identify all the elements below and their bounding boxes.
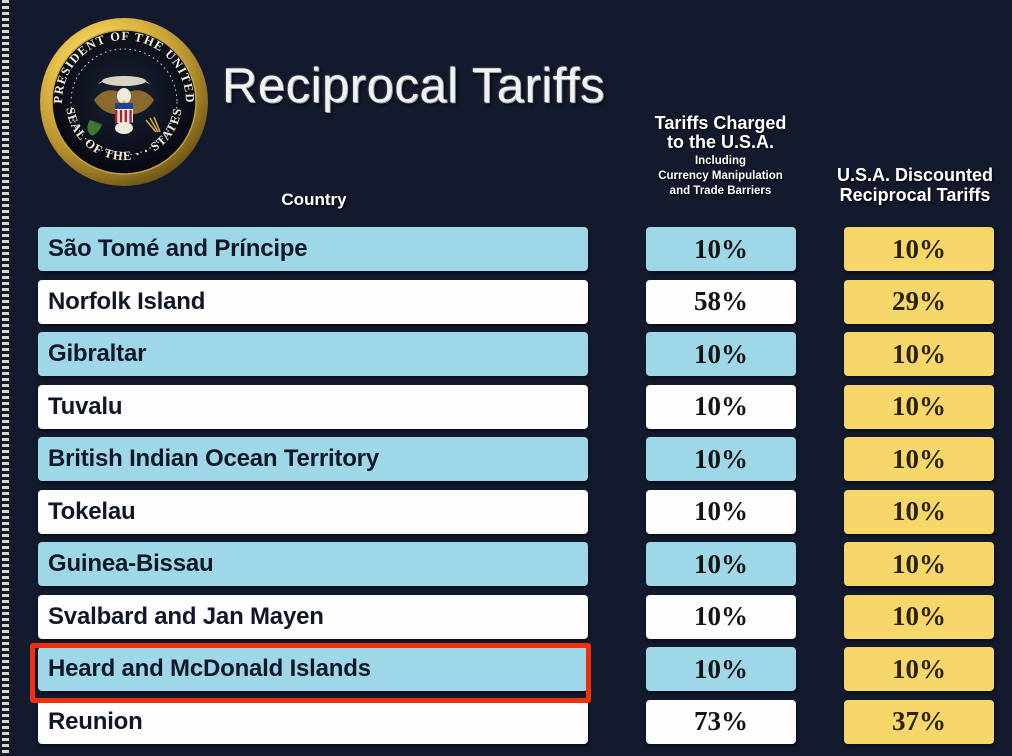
cell-tariff-charged[interactable]: 73% xyxy=(646,700,796,744)
country-label: Reunion xyxy=(48,708,143,736)
column-header-tariffs-charged: Tariffs Charged to the U.S.A. Including … xyxy=(618,114,823,199)
cell-tariff-discounted[interactable]: 10% xyxy=(844,647,994,691)
table-row[interactable]: São Tomé and Príncipe10%10% xyxy=(0,225,1012,278)
table-row[interactable]: Tokelau10%10% xyxy=(0,488,1012,541)
tariff-charged-value: 10% xyxy=(694,234,748,265)
country-label: British Indian Ocean Territory xyxy=(48,445,379,473)
tariff-charged-value: 73% xyxy=(694,706,748,737)
table-row[interactable]: Tuvalu10%10% xyxy=(0,383,1012,436)
cell-tariff-discounted[interactable]: 10% xyxy=(844,542,994,586)
cell-tariff-discounted[interactable]: 10% xyxy=(844,332,994,376)
cell-tariff-discounted[interactable]: 10% xyxy=(844,490,994,534)
tariff-charged-value: 10% xyxy=(694,444,748,475)
tariff-charged-value: 10% xyxy=(694,391,748,422)
tariff-charged-value: 58% xyxy=(694,286,748,317)
cell-country[interactable]: Gibraltar xyxy=(38,332,588,376)
country-label: São Tomé and Príncipe xyxy=(48,235,307,263)
table-row[interactable]: Heard and McDonald Islands10%10% xyxy=(0,645,1012,698)
cell-country[interactable]: Reunion xyxy=(38,700,588,744)
cell-tariff-charged[interactable]: 10% xyxy=(646,385,796,429)
cell-tariff-discounted[interactable]: 37% xyxy=(844,700,994,744)
cell-country[interactable]: Tokelau xyxy=(38,490,588,534)
slide-canvas: PRESIDENT OF THE UNITED SEAL OF THE · · … xyxy=(0,0,1012,756)
table-row[interactable]: British Indian Ocean Territory10%10% xyxy=(0,435,1012,488)
cell-tariff-discounted[interactable]: 10% xyxy=(844,227,994,271)
charged-sub-3: and Trade Barriers xyxy=(618,185,823,198)
tariff-discounted-value: 10% xyxy=(892,496,946,527)
tariff-table: São Tomé and Príncipe10%10%Norfolk Islan… xyxy=(0,225,1012,750)
country-label: Tokelau xyxy=(48,498,136,526)
tariff-charged-value: 10% xyxy=(694,496,748,527)
discount-line-1: U.S.A. Discounted xyxy=(818,166,1012,186)
cell-tariff-discounted[interactable]: 10% xyxy=(844,385,994,429)
charged-line-2: to the U.S.A. xyxy=(618,133,823,152)
country-label: Svalbard and Jan Mayen xyxy=(48,603,324,631)
table-row[interactable]: Norfolk Island58%29% xyxy=(0,278,1012,331)
cell-tariff-charged[interactable]: 58% xyxy=(646,280,796,324)
tariff-charged-value: 10% xyxy=(694,549,748,580)
cell-country[interactable]: Heard and McDonald Islands xyxy=(38,647,588,691)
cell-tariff-discounted[interactable]: 10% xyxy=(844,595,994,639)
tariff-discounted-value: 10% xyxy=(892,234,946,265)
cell-country[interactable]: São Tomé and Príncipe xyxy=(38,227,588,271)
cell-country[interactable]: Norfolk Island xyxy=(38,280,588,324)
cell-country[interactable]: Guinea-Bissau xyxy=(38,542,588,586)
tariff-discounted-value: 29% xyxy=(892,286,946,317)
discount-line-2: Reciprocal Tariffs xyxy=(818,186,1012,206)
tariff-charged-value: 10% xyxy=(694,339,748,370)
table-row[interactable]: Reunion73%37% xyxy=(0,698,1012,751)
charged-sub-1: Including xyxy=(618,155,823,168)
cell-tariff-charged[interactable]: 10% xyxy=(646,332,796,376)
tariff-discounted-value: 10% xyxy=(892,549,946,580)
tariff-discounted-value: 10% xyxy=(892,601,946,632)
tariff-charged-value: 10% xyxy=(694,654,748,685)
cell-country[interactable]: British Indian Ocean Territory xyxy=(38,437,588,481)
charged-sub-2: Currency Manipulation xyxy=(618,170,823,183)
page-title: Reciprocal Tariffs xyxy=(222,58,605,114)
column-header-usa-discounted: U.S.A. Discounted Reciprocal Tariffs xyxy=(818,166,1012,206)
table-row[interactable]: Gibraltar10%10% xyxy=(0,330,1012,383)
tariff-discounted-value: 37% xyxy=(892,706,946,737)
cell-tariff-discounted[interactable]: 29% xyxy=(844,280,994,324)
film-strip-edge xyxy=(2,0,9,756)
country-label: Norfolk Island xyxy=(48,288,205,316)
cell-tariff-charged[interactable]: 10% xyxy=(646,490,796,534)
cell-country[interactable]: Svalbard and Jan Mayen xyxy=(38,595,588,639)
charged-line-1: Tariffs Charged xyxy=(618,114,823,133)
cell-country[interactable]: Tuvalu xyxy=(38,385,588,429)
country-label: Tuvalu xyxy=(48,393,122,421)
tariff-discounted-value: 10% xyxy=(892,654,946,685)
presidential-seal-icon: PRESIDENT OF THE UNITED SEAL OF THE · · … xyxy=(36,14,212,190)
tariff-discounted-value: 10% xyxy=(892,339,946,370)
table-row[interactable]: Guinea-Bissau10%10% xyxy=(0,540,1012,593)
country-label: Guinea-Bissau xyxy=(48,550,213,578)
cell-tariff-charged[interactable]: 10% xyxy=(646,647,796,691)
country-label: Heard and McDonald Islands xyxy=(48,655,371,683)
table-row[interactable]: Svalbard and Jan Mayen10%10% xyxy=(0,593,1012,646)
country-label: Gibraltar xyxy=(48,340,146,368)
tariff-charged-value: 10% xyxy=(694,601,748,632)
tariff-discounted-value: 10% xyxy=(892,391,946,422)
tariff-discounted-value: 10% xyxy=(892,444,946,475)
cell-tariff-charged[interactable]: 10% xyxy=(646,437,796,481)
cell-tariff-charged[interactable]: 10% xyxy=(646,595,796,639)
cell-tariff-charged[interactable]: 10% xyxy=(646,542,796,586)
column-header-country: Country xyxy=(40,190,588,210)
cell-tariff-discounted[interactable]: 10% xyxy=(844,437,994,481)
slide-header: PRESIDENT OF THE UNITED SEAL OF THE · · … xyxy=(0,0,1012,225)
cell-tariff-charged[interactable]: 10% xyxy=(646,227,796,271)
